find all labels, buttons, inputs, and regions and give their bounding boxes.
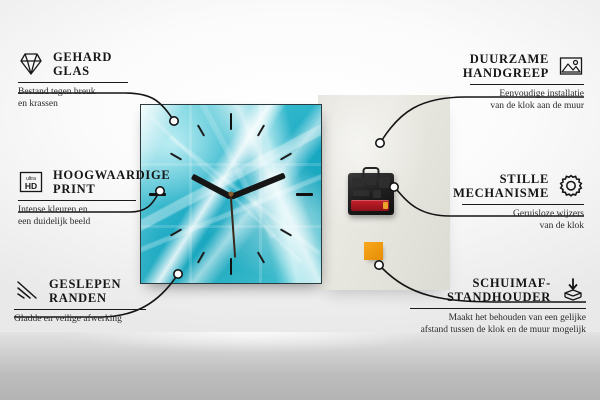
feature-duurzame-handgreep: DUURZAME HANDGREEP Eenvoudige installati…	[470, 52, 584, 112]
feature-schuimafstandhouder: SCHUIMAF- STANDHOUDER Maakt het behouden…	[410, 276, 586, 336]
feature-title-line1: STILLE	[500, 172, 549, 186]
feature-title-line2: PRINT	[53, 182, 95, 196]
feature-title-line2: MECHANISME	[453, 186, 549, 200]
feature-title-line2: RANDEN	[49, 291, 107, 305]
divider	[18, 200, 136, 201]
clock-movement-mechanism	[348, 173, 394, 215]
feature-title-line1: DUURZAME	[470, 52, 549, 66]
feature-desc-line1: Geruisloze wijzers	[513, 209, 584, 219]
feature-title-line2: GLAS	[53, 64, 90, 78]
feature-hoogwaardige-print: ultra HD HOOGWAARDIGE PRINT Intense kleu…	[18, 168, 136, 228]
svg-text:HD: HD	[25, 181, 37, 191]
feature-title-line2: HANDGREEP	[463, 66, 549, 80]
feature-title-line1: GEHARD	[53, 50, 112, 64]
feature-desc-line2: een duidelijk beeld	[18, 217, 90, 227]
feature-desc-line1: Eenvoudige installatie	[499, 89, 584, 99]
divider	[18, 82, 128, 83]
feature-gehard-glas: GEHARD GLAS Bestand tegen breuk en krass…	[18, 50, 128, 110]
divider	[470, 84, 584, 85]
picture-frame-icon	[558, 53, 584, 79]
divider	[14, 309, 146, 310]
hanging-hook-icon	[363, 167, 380, 178]
ultra-hd-icon: ultra HD	[18, 169, 44, 195]
feature-title-line2: STANDHOUDER	[447, 290, 551, 304]
feature-desc-line1: Intense kleuren en	[18, 205, 88, 215]
floor-gradient	[0, 332, 600, 400]
feature-desc-line2: en krassen	[18, 99, 58, 109]
feature-stille-mechanisme: STILLE MECHANISME Geruisloze wijzers van…	[462, 172, 584, 232]
feature-desc-line1: Maakt het behouden van een gelijke	[449, 313, 586, 323]
divider	[410, 308, 586, 309]
diamond-icon	[18, 51, 44, 77]
feature-geslepen-randen: GESLEPEN RANDEN Gladde en veilige afwerk…	[14, 277, 146, 326]
feature-desc-line1: Bestand tegen breuk	[18, 87, 96, 97]
divider	[462, 204, 584, 205]
foam-spacer	[364, 242, 383, 260]
product-infographic: GEHARD GLAS Bestand tegen breuk en krass…	[0, 0, 600, 400]
spacer-stack-icon	[560, 277, 586, 303]
clock-center-pivot	[229, 192, 234, 197]
feature-desc-line2: van de klok	[540, 221, 584, 231]
feature-title-line1: HOOGWAARDIGE	[53, 168, 170, 182]
beveled-edges-icon	[14, 278, 40, 304]
feature-desc-line2: afstand tussen de klok en de muur mogeli…	[421, 325, 586, 335]
feature-title-line1: SCHUIMAF-	[472, 276, 551, 290]
feature-desc-line1: Gladde en veilige afwerking	[14, 314, 122, 324]
feature-desc-line2: van de klok aan de muur	[490, 101, 584, 111]
gear-icon	[558, 173, 584, 199]
aa-battery	[351, 200, 389, 211]
feature-title-line1: GESLEPEN	[49, 277, 121, 291]
